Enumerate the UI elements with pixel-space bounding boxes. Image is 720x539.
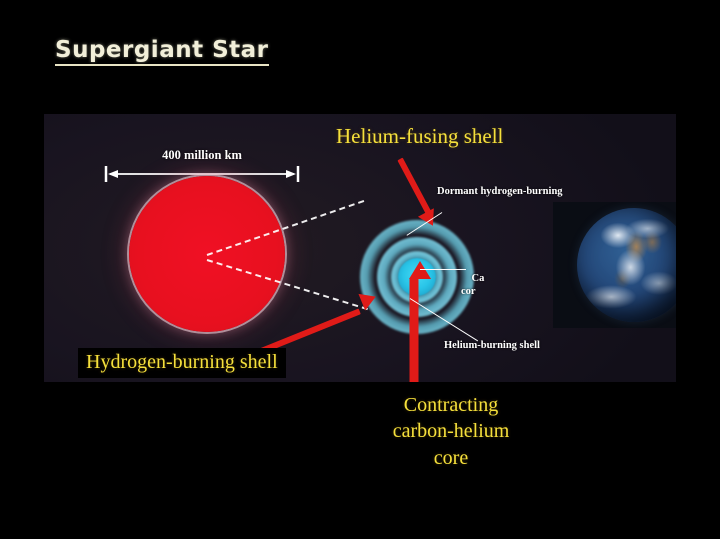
contracting-core-arrow-head bbox=[409, 261, 431, 279]
label-carbon-core-text: Ca cor bbox=[461, 273, 484, 297]
label-helium-burning-shell-text: Helium-burning shell bbox=[444, 340, 540, 351]
callout-contracting-line2: carbon-helium bbox=[356, 418, 546, 444]
callout-helium-fusing-shell: Helium-fusing shell bbox=[336, 124, 503, 149]
page-title: Supergiant Star bbox=[55, 38, 269, 66]
scale-bar: 400 million km bbox=[104, 150, 300, 174]
helium-fusing-arrow-shaft bbox=[397, 158, 431, 216]
diagram-panel: 400 million km Dormant hydrogen-burning … bbox=[44, 114, 676, 382]
label-dormant-text: Dormant hydrogen-burning bbox=[437, 186, 563, 197]
callout-contracting-line1: Contracting bbox=[356, 392, 546, 418]
label-helium-burning-shell: Helium-burning shell bbox=[444, 340, 540, 352]
callout-contracting-line3: core bbox=[356, 445, 546, 471]
earth-globe-icon bbox=[577, 208, 676, 322]
leader-line-carbon-core bbox=[420, 269, 466, 270]
scale-bar-label: 400 million km bbox=[104, 148, 300, 163]
label-carbon-core: Ca cor bbox=[461, 260, 484, 311]
contracting-core-arrow-shaft bbox=[410, 279, 419, 383]
callout-hydrogen-burning-shell: Hydrogen-burning shell bbox=[78, 348, 286, 378]
label-dormant-hydrogen-burning: Dormant hydrogen-burning bbox=[437, 186, 563, 198]
earth-photo-panel bbox=[553, 202, 676, 328]
callout-contracting-core: Contracting carbon-helium core bbox=[356, 392, 546, 471]
